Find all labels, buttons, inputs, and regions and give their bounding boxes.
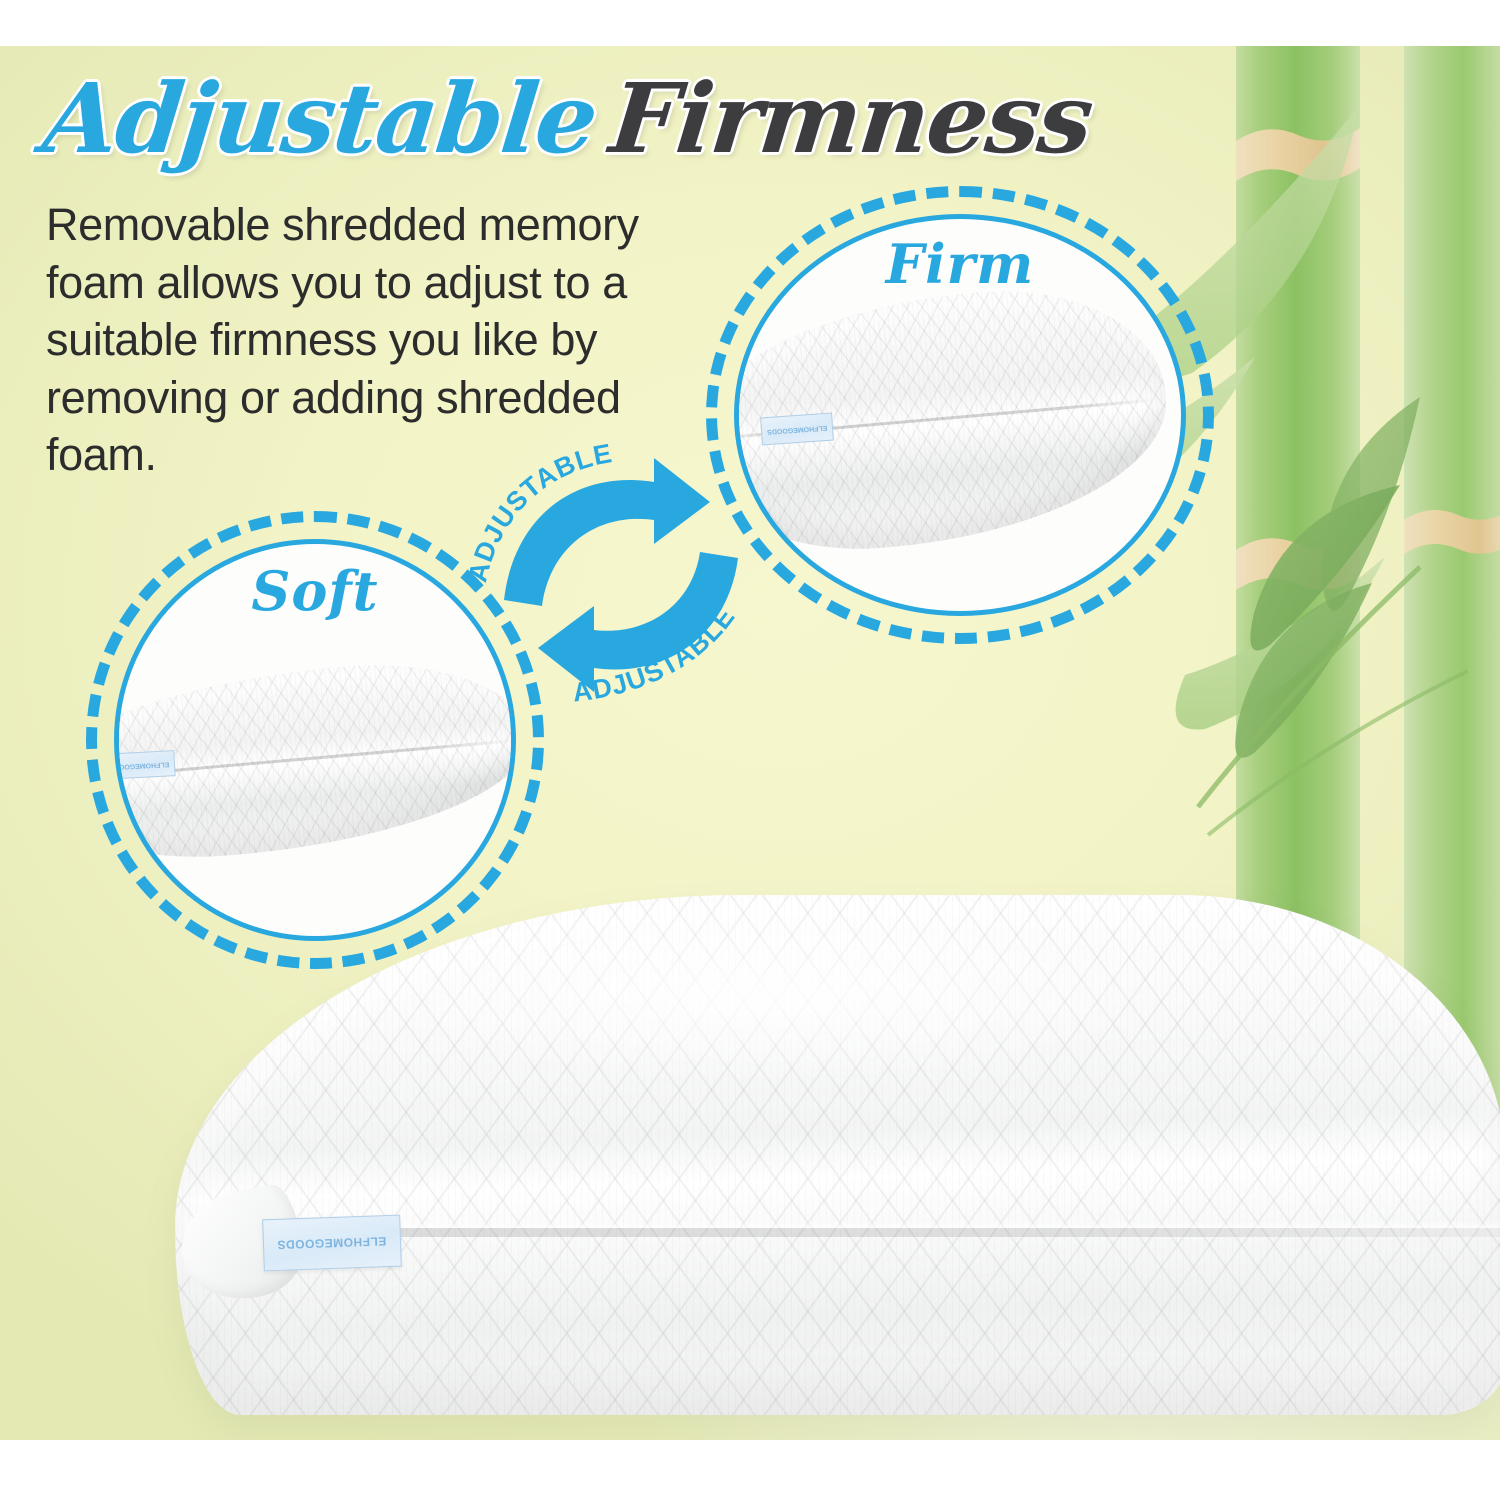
- main-pillow: ELFHOMEGOODS: [175, 895, 1500, 1455]
- headline-accent-word: Adjustable: [38, 62, 601, 175]
- top-white-band: [0, 0, 1500, 46]
- headline-dark-word: Firmness: [605, 62, 1097, 175]
- main-pillow-highlight: [361, 905, 1159, 1082]
- soft-pillow-texture: [119, 651, 511, 870]
- main-pillow-body: [175, 895, 1500, 1415]
- main-pillow-tag-text: ELFHOMEGOODS: [277, 1234, 387, 1252]
- soft-pillow-tag: ELFHOMEGOODS: [119, 750, 176, 780]
- headline: AdjustableFirmness: [44, 62, 1091, 175]
- main-pillow-tag: ELFHOMEGOODS: [262, 1215, 402, 1272]
- product-feature-image: AdjustableFirmness Removable shredded me…: [0, 0, 1500, 1500]
- badge-firm-label: Firm: [700, 232, 1220, 296]
- soft-pillow-crosssection: [119, 651, 511, 870]
- soft-pillow-tag-text: ELFHOMEGOODS: [119, 760, 169, 770]
- body-copy: Removable shredded memory foam allows yo…: [46, 196, 706, 484]
- svg-text:ADJUSTABLE: ADJUSTABLE: [571, 601, 741, 707]
- firm-pillow-tag-text: ELFHOMEGOODS: [767, 423, 828, 434]
- bottom-white-band: [0, 1440, 1500, 1500]
